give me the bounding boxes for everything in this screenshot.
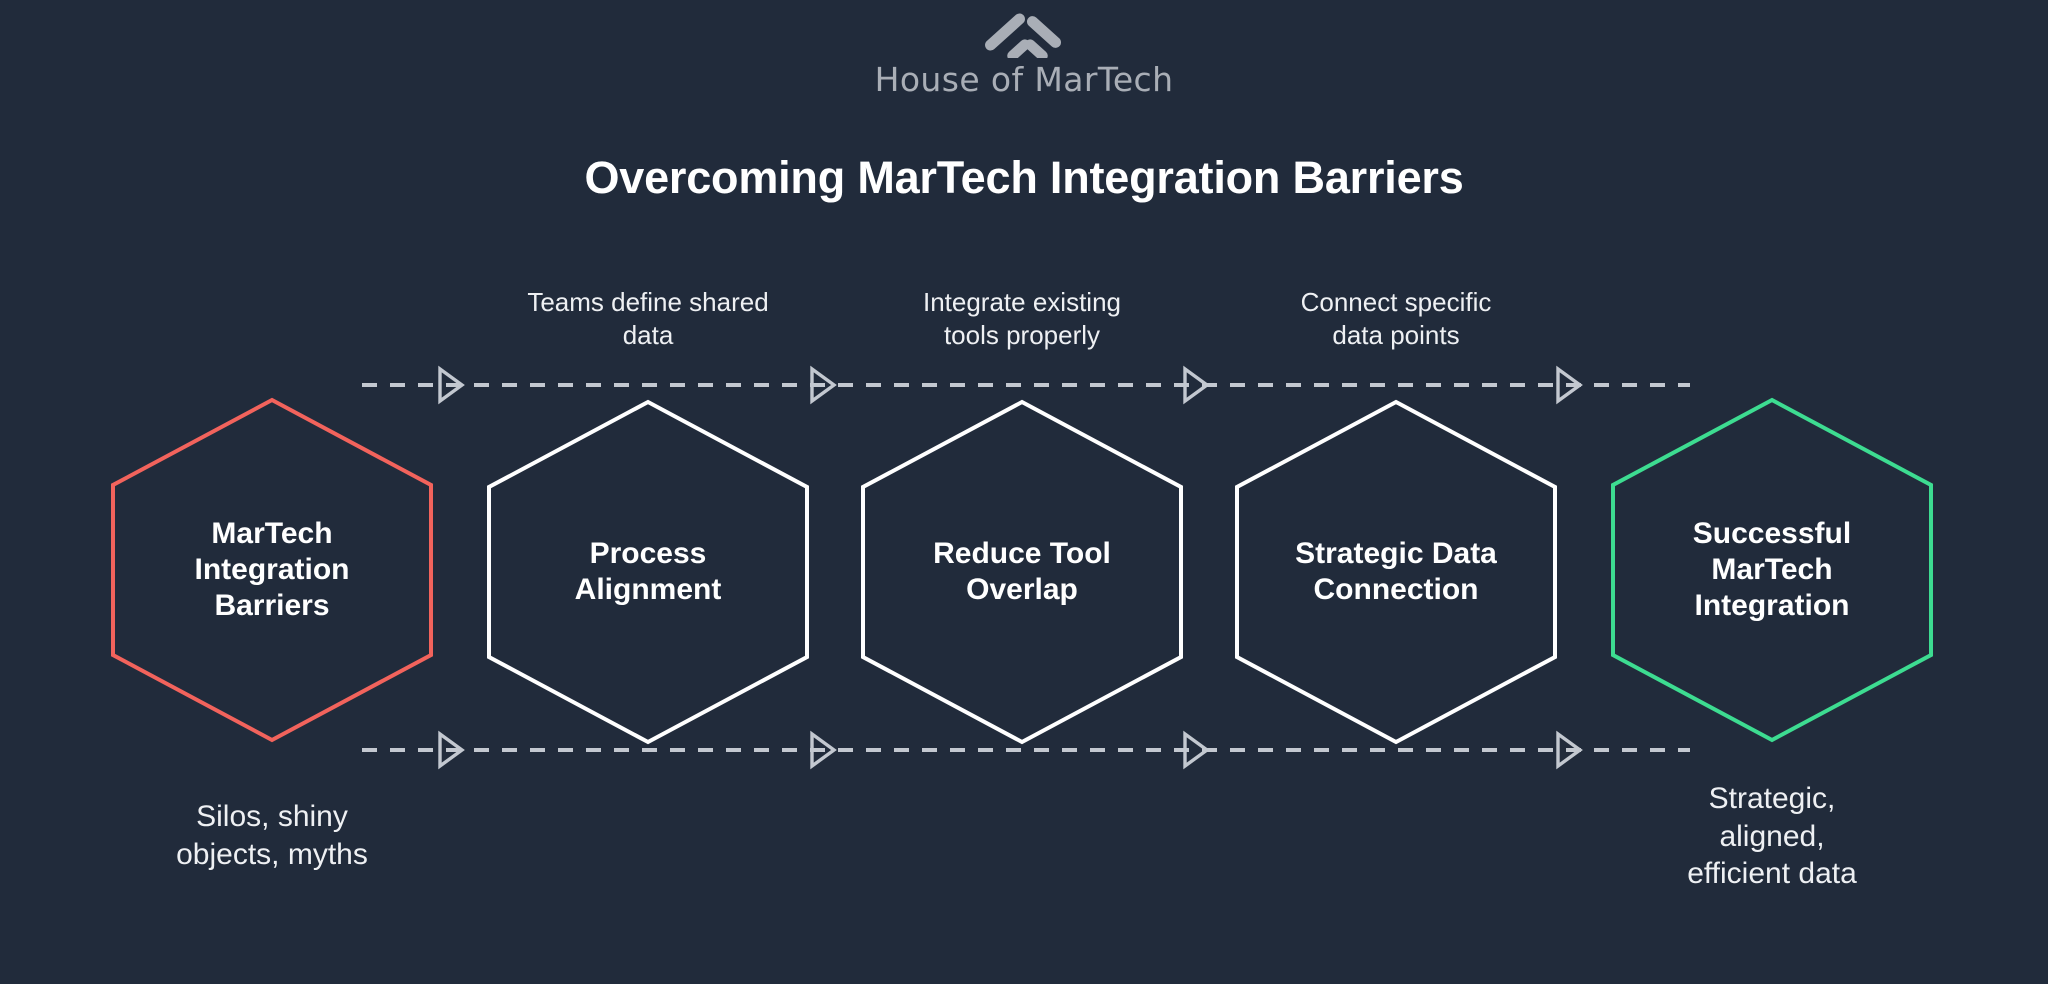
hexagon-label-start: MarTech Integration Barriers [112,490,432,650]
connector-label-1: Teams define shared data [440,286,856,353]
connector-label-2: Integrate existing tools properly [814,286,1230,353]
hexagon-label-step-1: Process Alignment [488,492,808,652]
infographic-canvas: House of MarTech Overcoming MarTech Inte… [0,0,2048,984]
note-end: Strategic, aligned, efficient data [1612,780,1932,893]
note-start: Silos, shiny objects, myths [92,798,452,873]
connector-label-3: Connect specific data points [1188,286,1604,353]
hexagon-label-step-3: Strategic Data Connection [1236,492,1556,652]
hexagon-label-end: Successful MarTech Integration [1612,490,1932,650]
hexagon-label-step-2: Reduce Tool Overlap [862,492,1182,652]
